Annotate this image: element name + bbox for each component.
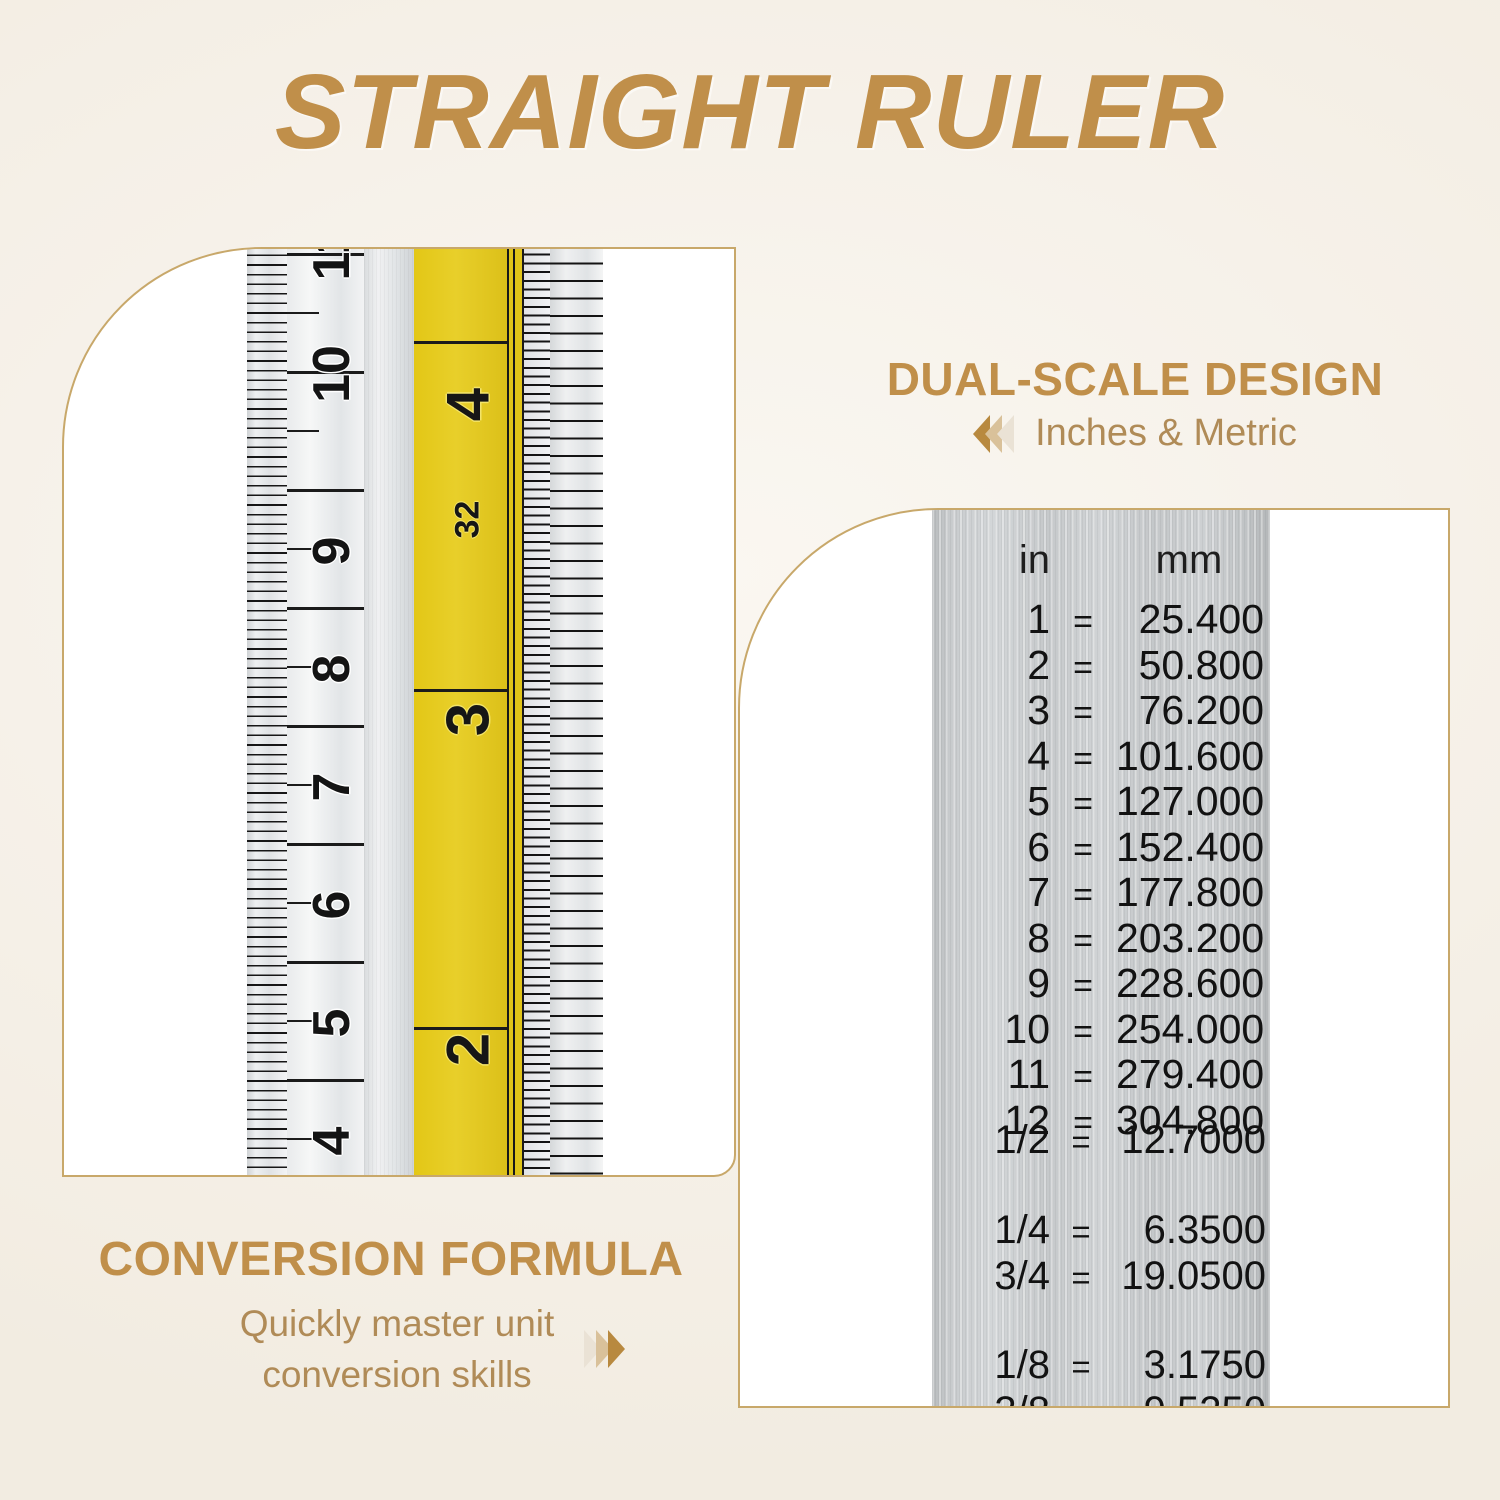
- cell-in: 1: [932, 596, 1050, 643]
- ruler-image: 11 10 9 8 7 6 5 4 4 32 3 2: [247, 247, 603, 1177]
- table-row: 1/8=3.1750: [932, 1343, 1270, 1389]
- cell-equals: =: [1050, 967, 1116, 1006]
- product-feature-graphic: STRAIGHT RULER: [0, 0, 1500, 1500]
- table-row: 3=76.200: [932, 687, 1270, 733]
- table-header-row: in mm: [932, 538, 1270, 583]
- inch-label: 3: [434, 670, 503, 770]
- cell-equals: =: [1050, 1123, 1112, 1161]
- cell-in: 1/2: [932, 1118, 1050, 1163]
- conversion-subtitle: Quickly master unit conversion skills: [240, 1298, 555, 1400]
- cell-mm: 3.1750: [1112, 1343, 1270, 1388]
- inch-rail-inner: [515, 247, 524, 1177]
- cell-equals: =: [1050, 922, 1116, 961]
- cell-mm: 228.600: [1116, 960, 1270, 1007]
- inch-rail-outer: [507, 247, 514, 1177]
- cell-equals: =: [1050, 1213, 1112, 1251]
- metric-label: 11: [302, 247, 362, 292]
- cell-mm: 19.0500: [1112, 1254, 1270, 1299]
- conversion-subtitle-line1: Quickly master unit: [240, 1303, 555, 1344]
- cell-equals: =: [1050, 740, 1116, 779]
- metric-label: 8: [302, 630, 362, 708]
- table-row: 11=279.400: [932, 1051, 1270, 1097]
- cell-mm: 12.7000: [1112, 1118, 1270, 1163]
- cell-equals: =: [1050, 785, 1116, 824]
- table-row: 1=25.400: [932, 596, 1270, 642]
- cell-mm: 6.3500: [1112, 1208, 1270, 1253]
- metric-fine-ticks: [247, 247, 287, 1177]
- cell-in: 9: [932, 960, 1050, 1007]
- cell-mm: 254.000: [1116, 1006, 1270, 1053]
- dual-scale-subtitle: Inches & Metric: [1035, 412, 1297, 455]
- cell-equals: =: [1050, 876, 1116, 915]
- cell-in: 11: [932, 1051, 1050, 1098]
- cell-mm: 25.400: [1116, 596, 1270, 643]
- conversion-subtitle-row: Quickly master unit conversion skills: [150, 1298, 710, 1400]
- cell-in: 10: [932, 1006, 1050, 1053]
- cell-mm: 177.800: [1116, 869, 1270, 916]
- inch-label: 2: [434, 1000, 503, 1100]
- metric-label: 4: [302, 1102, 362, 1177]
- cell-in: 1/8: [932, 1343, 1050, 1388]
- ruler-photo-panel: 11 10 9 8 7 6 5 4 4 32 3 2: [62, 247, 736, 1177]
- cell-in: 8: [932, 915, 1050, 962]
- cell-equals: =: [1050, 649, 1116, 688]
- cell-mm: 203.200: [1116, 915, 1270, 962]
- whole-inch-rows: 1=25.400 2=50.800 3=76.200 4=101.600 5=1…: [932, 596, 1270, 1142]
- table-row: 3/8=9.5250: [932, 1389, 1270, 1409]
- ruler-plain-metal-band: [364, 247, 414, 1177]
- cell-equals: =: [1050, 694, 1116, 733]
- table-row: 5=127.000: [932, 778, 1270, 824]
- table-row: 8=203.200: [932, 915, 1270, 961]
- inch-sub-ticks: [524, 247, 550, 1177]
- cell-mm: 101.600: [1116, 733, 1270, 780]
- metric-label: 10: [302, 335, 362, 413]
- cell-mm: 50.800: [1116, 642, 1270, 689]
- metric-label: 5: [302, 984, 362, 1062]
- column-header-spacer: [1050, 538, 1116, 583]
- cell-in: 2: [932, 642, 1050, 689]
- table-row: 2=50.800: [932, 642, 1270, 688]
- dual-scale-subtitle-row: Inches & Metric: [820, 412, 1450, 455]
- metric-label: 9: [302, 512, 362, 590]
- quarter-inch-rows: 1/4=6.3500 3/4=19.0500: [932, 1208, 1270, 1299]
- metric-label: 7: [302, 748, 362, 826]
- metric-number-column: 11 10 9 8 7 6 5 4: [287, 247, 365, 1177]
- table-row: 1/4=6.3500: [932, 1208, 1270, 1254]
- inch-major-ticks: [550, 247, 603, 1177]
- table-row: 7=177.800: [932, 869, 1270, 915]
- cell-equals: =: [1050, 1013, 1116, 1052]
- table-row: 6=152.400: [932, 824, 1270, 870]
- page-title: STRAIGHT RULER: [0, 52, 1500, 173]
- cell-mm: 127.000: [1116, 778, 1270, 825]
- cell-equals: =: [1050, 1259, 1112, 1297]
- metric-label: 6: [302, 866, 362, 944]
- cell-in: 3/8: [932, 1389, 1050, 1409]
- cell-in: 6: [932, 824, 1050, 871]
- cell-mm: 9.5250: [1112, 1389, 1270, 1409]
- cell-mm: 76.200: [1116, 687, 1270, 734]
- half-inch-rows: 1/2=12.7000: [932, 1118, 1270, 1164]
- table-row: 1/2=12.7000: [932, 1118, 1270, 1164]
- cell-mm: 152.400: [1116, 824, 1270, 871]
- conversion-table-panel: in mm 1=25.400 2=50.800 3=76.200 4=101.6…: [738, 508, 1450, 1408]
- cell-in: 5: [932, 778, 1050, 825]
- cell-equals: =: [1050, 1058, 1116, 1097]
- eighth-inch-rows: 1/8=3.1750 3/8=9.5250 5/8=15.8750: [932, 1343, 1270, 1408]
- conversion-subtitle-line2: conversion skills: [262, 1354, 531, 1395]
- cell-in: 3/4: [932, 1254, 1050, 1299]
- dual-scale-heading: DUAL-SCALE DESIGN: [820, 352, 1450, 406]
- inch-scale-yellow-band: 4 32 3 2: [414, 247, 507, 1177]
- table-row: 9=228.600: [932, 960, 1270, 1006]
- metal-strip-background: in mm 1=25.400 2=50.800 3=76.200 4=101.6…: [932, 508, 1270, 1408]
- inch-fraction-label: 32: [449, 470, 488, 570]
- table-row: 3/4=19.0500: [932, 1254, 1270, 1300]
- table-row: 4=101.600: [932, 733, 1270, 779]
- chevrons-left-icon: [973, 415, 1009, 453]
- cell-equals: =: [1050, 1348, 1112, 1386]
- cell-in: 1/4: [932, 1208, 1050, 1253]
- inch-label: 4: [434, 355, 503, 455]
- column-header-millimeters: mm: [1116, 538, 1270, 583]
- cell-equals: =: [1050, 831, 1116, 870]
- cell-in: 4: [932, 733, 1050, 780]
- chevrons-right-icon: [584, 1330, 620, 1368]
- cell-mm: 279.400: [1116, 1051, 1270, 1098]
- table-row: 10=254.000: [932, 1006, 1270, 1052]
- cell-in: 7: [932, 869, 1050, 916]
- cell-equals: =: [1050, 603, 1116, 642]
- cell-equals: =: [1050, 1394, 1112, 1409]
- column-header-inches: in: [932, 538, 1050, 583]
- conversion-formula-heading: CONVERSION FORMULA: [46, 1232, 736, 1287]
- cell-in: 3: [932, 687, 1050, 734]
